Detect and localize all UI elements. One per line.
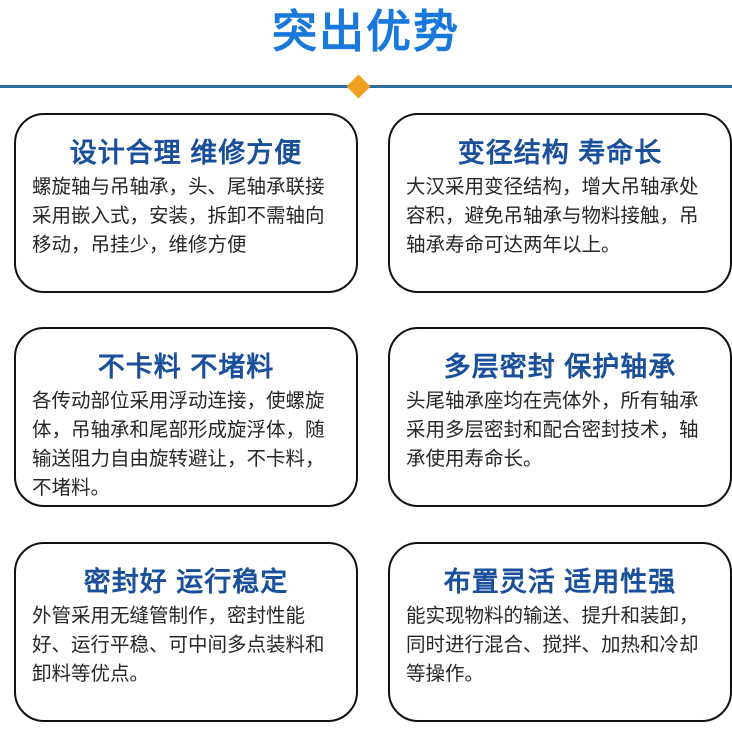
page-header: 突出优势 bbox=[0, 0, 732, 100]
card-title: 变径结构 寿命长 bbox=[404, 137, 716, 169]
card-title: 多层密封 保护轴承 bbox=[404, 351, 716, 383]
advantage-card: 多层密封 保护轴承 头尾轴承座均在壳体外，所有轴承采用多层密封和配合密封技术，轴… bbox=[388, 327, 732, 507]
advantage-card: 不卡料 不堵料 各传动部位采用浮动连接，使螺旋体，吊轴承和尾部形成旋浮体，随输送… bbox=[14, 327, 358, 507]
card-body: 螺旋轴与吊轴承，头、尾轴承联接采用嵌入式，安装，拆卸不需轴向移动，吊挂少，维修方… bbox=[30, 173, 342, 260]
card-title: 不卡料 不堵料 bbox=[30, 351, 342, 383]
advantage-card: 设计合理 维修方便 螺旋轴与吊轴承，头、尾轴承联接采用嵌入式，安装，拆卸不需轴向… bbox=[14, 113, 358, 293]
diamond-icon bbox=[346, 74, 370, 98]
card-body: 外管采用无缝管制作，密封性能好、运行平稳、可中间多点装料和卸料等优点。 bbox=[30, 602, 342, 689]
title-divider bbox=[0, 78, 732, 100]
advantage-card: 布置灵活 适用性强 能实现物料的输送、提升和装卸，同时进行混合、搅拌、加热和冷却… bbox=[388, 542, 732, 722]
card-body: 头尾轴承座均在壳体外，所有轴承采用多层密封和配合密封技术，轴承使用寿命长。 bbox=[404, 387, 716, 474]
card-title: 布置灵活 适用性强 bbox=[404, 566, 716, 598]
advantage-card-grid: 设计合理 维修方便 螺旋轴与吊轴承，头、尾轴承联接采用嵌入式，安装，拆卸不需轴向… bbox=[0, 113, 732, 737]
card-body: 能实现物料的输送、提升和装卸，同时进行混合、搅拌、加热和冷却等操作。 bbox=[404, 602, 716, 689]
advantage-card: 密封好 运行稳定 外管采用无缝管制作，密封性能好、运行平稳、可中间多点装料和卸料… bbox=[14, 542, 358, 722]
card-title: 设计合理 维修方便 bbox=[30, 137, 342, 169]
page-title: 突出优势 bbox=[0, 2, 732, 62]
card-body: 各传动部位采用浮动连接，使螺旋体，吊轴承和尾部形成旋浮体，随输送阻力自由旋转避让… bbox=[30, 387, 342, 503]
card-body: 大汉采用变径结构，增大吊轴承处容积，避免吊轴承与物料接触，吊轴承寿命可达两年以上… bbox=[404, 173, 716, 260]
advantage-card: 变径结构 寿命长 大汉采用变径结构，增大吊轴承处容积，避免吊轴承与物料接触，吊轴… bbox=[388, 113, 732, 293]
card-title: 密封好 运行稳定 bbox=[30, 566, 342, 598]
